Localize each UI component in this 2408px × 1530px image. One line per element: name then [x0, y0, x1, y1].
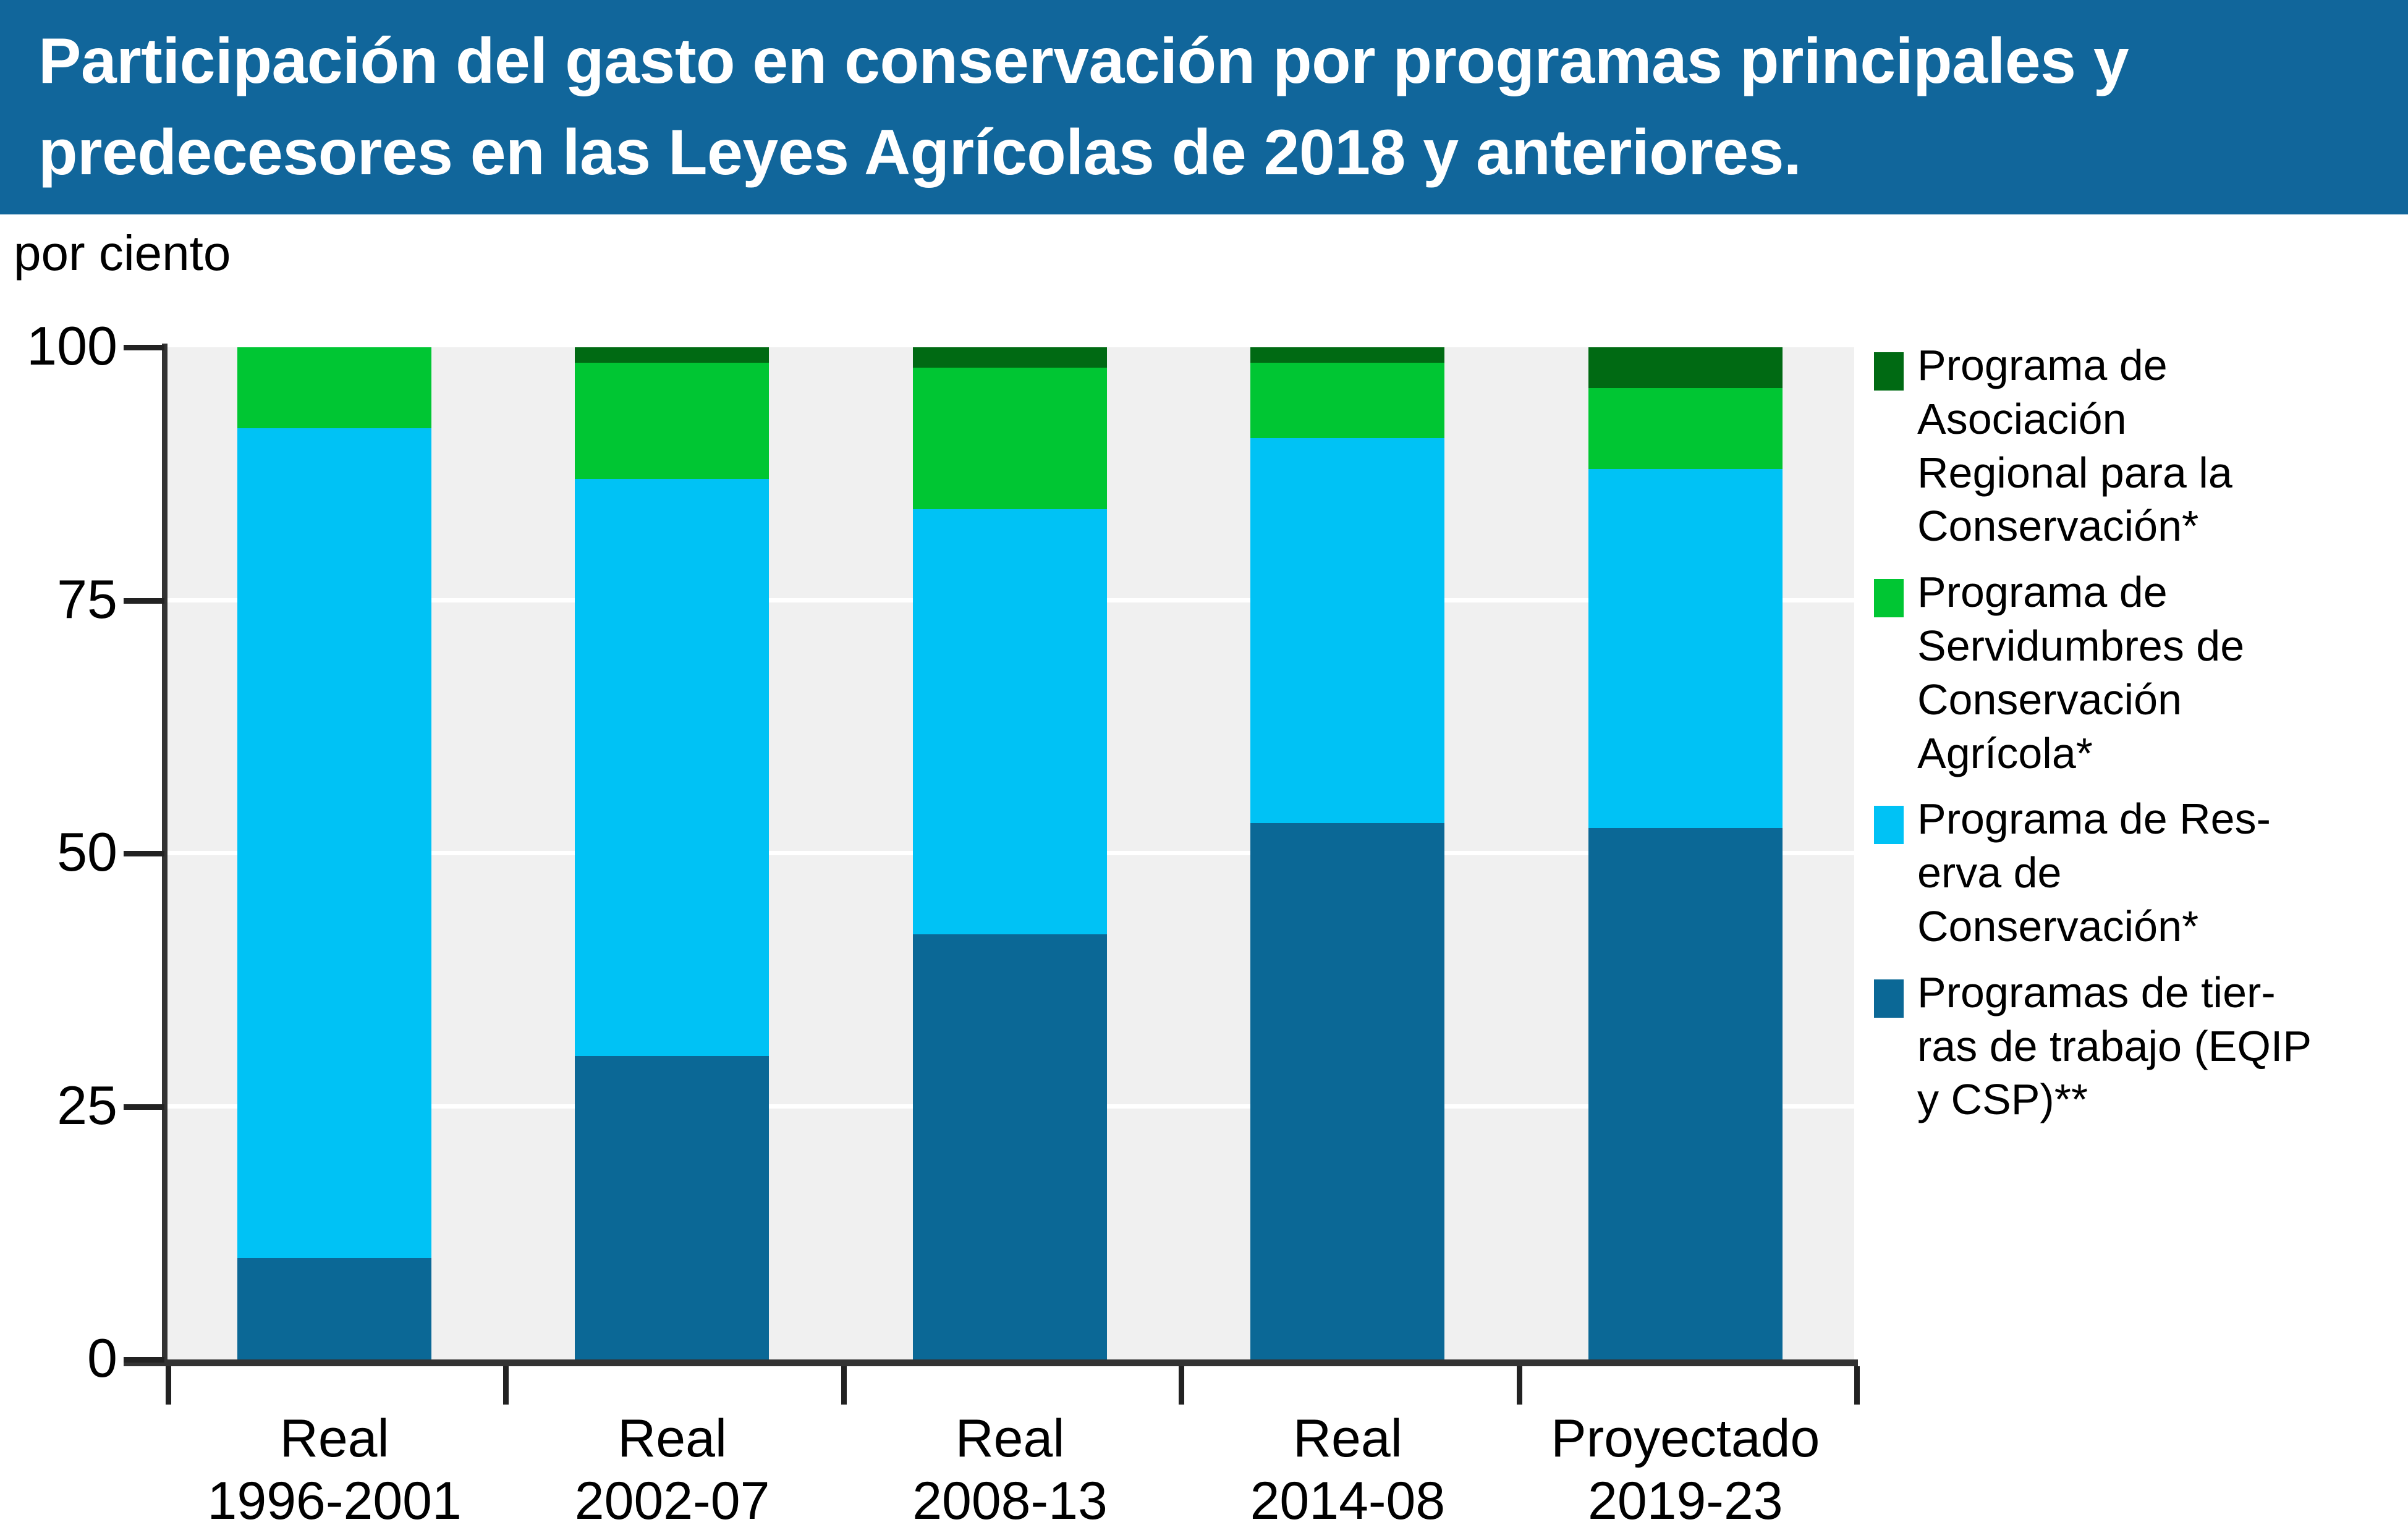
- bar-segment: [1250, 438, 1444, 822]
- legend-item-working-lands[interactable]: Programas de tier- ras de trabajo (EQIP …: [1874, 966, 2408, 1126]
- y-axis-tick: [124, 851, 164, 856]
- legend-item-acep[interactable]: Programa de Servidumbres de Conservación…: [1874, 565, 2408, 780]
- x-axis-tick: [841, 1366, 847, 1405]
- bar-segment: [913, 368, 1107, 509]
- bar-segment: [237, 428, 431, 1258]
- y-axis-units-label: por ciento: [14, 229, 231, 278]
- legend-item-label: Programa de Res- erva de Conservación*: [1917, 792, 2271, 953]
- x-axis-category-label: Real 1996-2001: [161, 1408, 507, 1530]
- bar-segment: [575, 1056, 769, 1359]
- y-axis-tick: [124, 598, 164, 604]
- x-axis-tick: [503, 1366, 509, 1405]
- stacked-bar: [237, 347, 431, 1359]
- plot-area: [166, 347, 1854, 1359]
- legend-swatch-icon: [1874, 579, 1904, 617]
- bar-segment: [1588, 388, 1783, 469]
- bar-segment: [913, 347, 1107, 368]
- y-axis-tick-label: 75: [0, 572, 117, 627]
- bar-segment: [237, 1258, 431, 1359]
- bar-segment: [1250, 823, 1444, 1359]
- x-axis-tick: [1517, 1366, 1522, 1405]
- x-axis-category-label: Real 2014-08: [1174, 1408, 1520, 1530]
- stacked-bar: [1588, 347, 1783, 1359]
- y-axis-tick-label: 50: [0, 825, 117, 879]
- bar-segment: [237, 347, 431, 428]
- x-axis-tick: [1179, 1366, 1184, 1405]
- legend-item-label: Programas de tier- ras de trabajo (EQIP …: [1917, 966, 2312, 1126]
- legend-swatch-icon: [1874, 352, 1904, 391]
- chart-legend: Programa de Asociación Regional para la …: [1874, 339, 2408, 1139]
- stacked-bar: [1250, 347, 1444, 1359]
- legend-item-label: Programa de Servidumbres de Conservación…: [1917, 565, 2244, 780]
- chart-header-bar: Participación del gasto en conservación …: [0, 0, 2408, 214]
- x-axis-tick: [166, 1366, 171, 1405]
- bar-segment: [575, 363, 769, 479]
- x-axis-category-label: Proyectado 2019-23: [1512, 1408, 1859, 1530]
- bar-segment: [1588, 828, 1783, 1359]
- x-axis-category-label: Real 2008-13: [837, 1408, 1183, 1530]
- legend-item-crp[interactable]: Programa de Res- erva de Conservación*: [1874, 792, 2408, 953]
- stacked-bar: [913, 347, 1107, 1359]
- y-axis-tick-label: 100: [0, 319, 117, 373]
- chart-page: Participación del gasto en conservación …: [0, 0, 2408, 1530]
- bar-segment: [913, 934, 1107, 1359]
- bar-segment: [913, 509, 1107, 934]
- y-axis-tick: [124, 1357, 164, 1363]
- bar-segment: [1588, 469, 1783, 828]
- stacked-bar: [575, 347, 769, 1359]
- bar-segment: [575, 479, 769, 1056]
- legend-item-rcpp[interactable]: Programa de Asociación Regional para la …: [1874, 339, 2408, 553]
- y-axis-tick: [124, 345, 164, 350]
- y-axis-tick: [124, 1104, 164, 1110]
- x-axis-category-label: Real 2002-07: [499, 1408, 846, 1530]
- page-title: Participación del gasto en conservación …: [38, 16, 2371, 198]
- x-axis-tick: [1854, 1366, 1860, 1405]
- y-axis-tick-label: 0: [0, 1331, 117, 1385]
- y-axis-tick-label: 25: [0, 1078, 117, 1133]
- legend-swatch-icon: [1874, 806, 1904, 844]
- legend-swatch-icon: [1874, 979, 1904, 1018]
- bar-segment: [1250, 347, 1444, 363]
- legend-item-label: Programa de Asociación Regional para la …: [1917, 339, 2232, 553]
- bar-segment: [1588, 347, 1783, 388]
- bar-segment: [1250, 363, 1444, 439]
- x-axis-line: [124, 1359, 1858, 1366]
- bar-segment: [575, 347, 769, 363]
